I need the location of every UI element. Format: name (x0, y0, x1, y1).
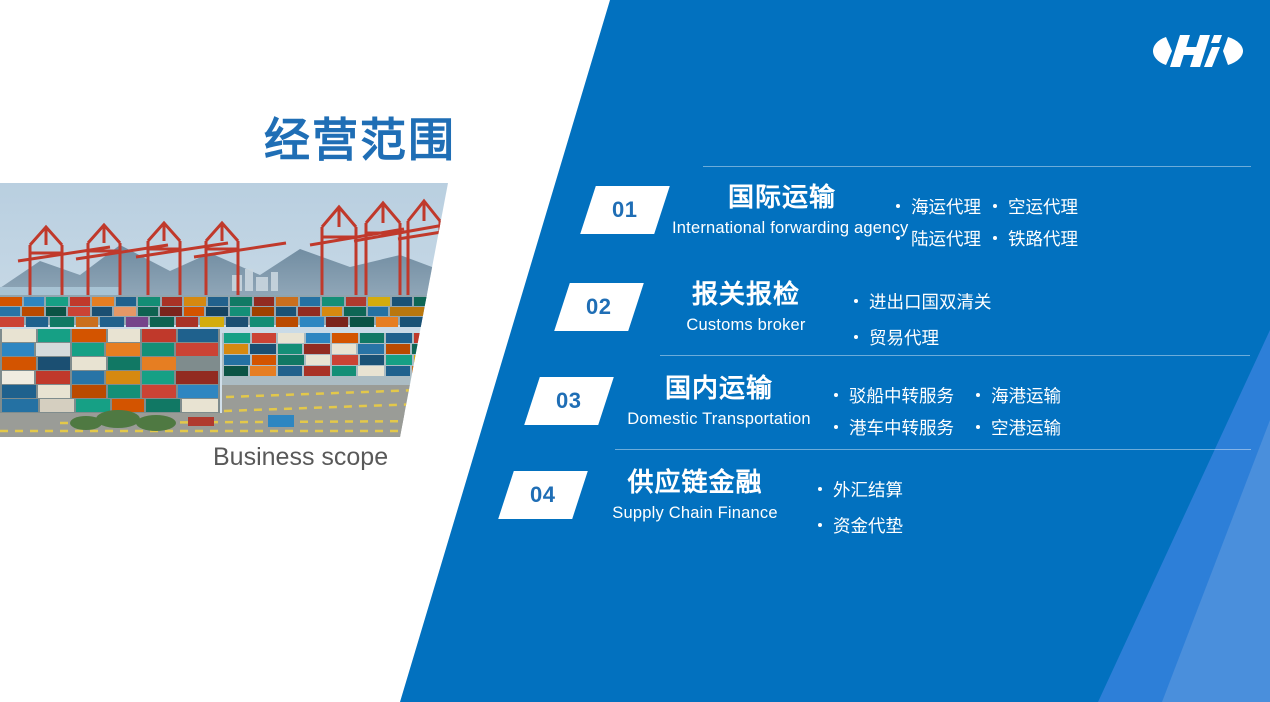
scope-badge-03: 03 (524, 377, 614, 425)
scope-bullets-02: 进出口国双清关 贸易代理 (854, 285, 992, 353)
scope-number-02: 02 (586, 294, 611, 320)
scope-bullets-01: 海运代理 陆运代理 空运代理 铁路代理 (896, 190, 1078, 254)
bullet-dot-icon (834, 425, 838, 429)
page-subtitle: Business scope (213, 443, 388, 472)
bullet-dot-icon (818, 523, 822, 527)
scope-bullet: 空运代理 (993, 190, 1078, 222)
scope-bullet: 铁路代理 (993, 222, 1078, 254)
bullet-dot-icon (896, 236, 900, 240)
scope-bullet: 空港运输 (976, 411, 1061, 443)
scope-number-04: 04 (530, 482, 555, 508)
scope-bullet: 海港运输 (976, 379, 1061, 411)
scope-badge-01: 01 (580, 186, 670, 234)
scope-bullet: 陆运代理 (896, 222, 981, 254)
scope-badge-04: 04 (498, 471, 588, 519)
scope-title-cn-01: 国际运输 (672, 182, 892, 214)
scope-number-01: 01 (612, 197, 637, 223)
scope-title-cn-04: 供应链金融 (590, 467, 800, 499)
scope-labels-04: 供应链金融 Supply Chain Finance (590, 467, 800, 525)
divider-between-row-2-3 (660, 355, 1250, 356)
bullet-dot-icon (834, 393, 838, 397)
bullet-dot-icon (976, 393, 980, 397)
divider-between-row-3-4 (615, 449, 1251, 450)
scope-bullet: 海运代理 (896, 190, 981, 222)
scope-bullet: 驳船中转服务 (834, 379, 954, 411)
scope-bullet: 进出口国双清关 (854, 285, 992, 317)
page-title: 经营范围 (264, 104, 456, 170)
scope-labels-03: 国内运输 Domestic Transportation (616, 373, 822, 431)
company-logo-icon (1152, 28, 1244, 74)
bullet-dot-icon (993, 236, 997, 240)
port-photo (0, 183, 448, 437)
scope-bullet: 港车中转服务 (834, 411, 954, 443)
scope-labels-02: 报关报检 Customs broker (646, 279, 846, 337)
scope-bullet: 外汇结算 (818, 473, 903, 505)
scope-bullets-04: 外汇结算 资金代垫 (818, 473, 903, 541)
bullet-dot-icon (854, 299, 858, 303)
scope-title-cn-03: 国内运输 (616, 373, 822, 405)
scope-title-en-02: Customs broker (646, 313, 846, 337)
scope-badge-02: 02 (554, 283, 644, 331)
bullet-dot-icon (976, 425, 980, 429)
divider-above-row-1 (703, 166, 1251, 167)
scope-number-03: 03 (556, 388, 581, 414)
scope-title-en-04: Supply Chain Finance (590, 501, 800, 525)
scope-title-cn-02: 报关报检 (646, 279, 846, 311)
scope-title-en-01: International forwarding agency (672, 216, 892, 240)
bullet-dot-icon (993, 204, 997, 208)
scope-title-en-03: Domestic Transportation (616, 407, 822, 431)
bullet-dot-icon (896, 204, 900, 208)
bullet-dot-icon (818, 487, 822, 491)
scope-bullets-03: 驳船中转服务 港车中转服务 海港运输 空港运输 (834, 379, 1061, 443)
scope-bullet: 贸易代理 (854, 321, 992, 353)
scope-labels-01: 国际运输 International forwarding agency (672, 182, 892, 240)
bullet-dot-icon (854, 335, 858, 339)
scope-bullet: 资金代垫 (818, 509, 903, 541)
slide-canvas: 经营范围 (0, 0, 1270, 702)
